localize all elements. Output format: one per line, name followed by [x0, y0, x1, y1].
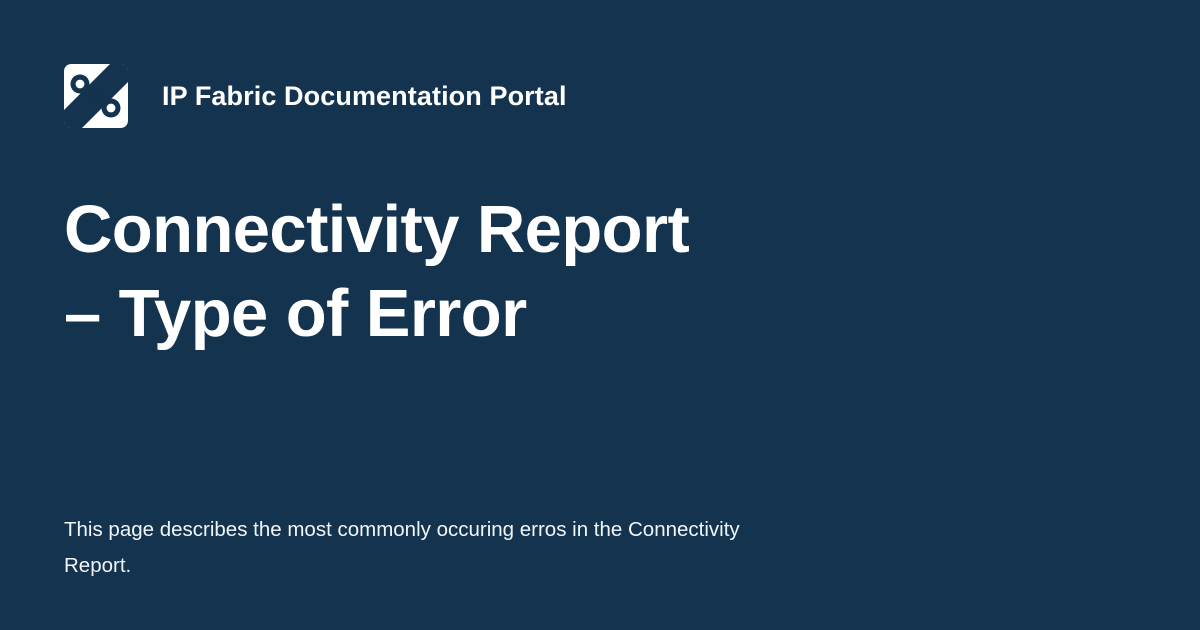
page-title-line-2: – Type of Error: [64, 272, 884, 356]
og-preview-card: IP Fabric Documentation Portal Connectiv…: [0, 0, 1200, 630]
page-description: This page describes the most commonly oc…: [64, 512, 764, 584]
brand-title: IP Fabric Documentation Portal: [162, 64, 567, 128]
ip-fabric-logo-icon: [64, 64, 128, 128]
brand-header[interactable]: IP Fabric Documentation Portal: [64, 64, 567, 128]
page-title-line-1: Connectivity Report: [64, 188, 884, 272]
page-title: Connectivity Report – Type of Error: [64, 188, 884, 356]
